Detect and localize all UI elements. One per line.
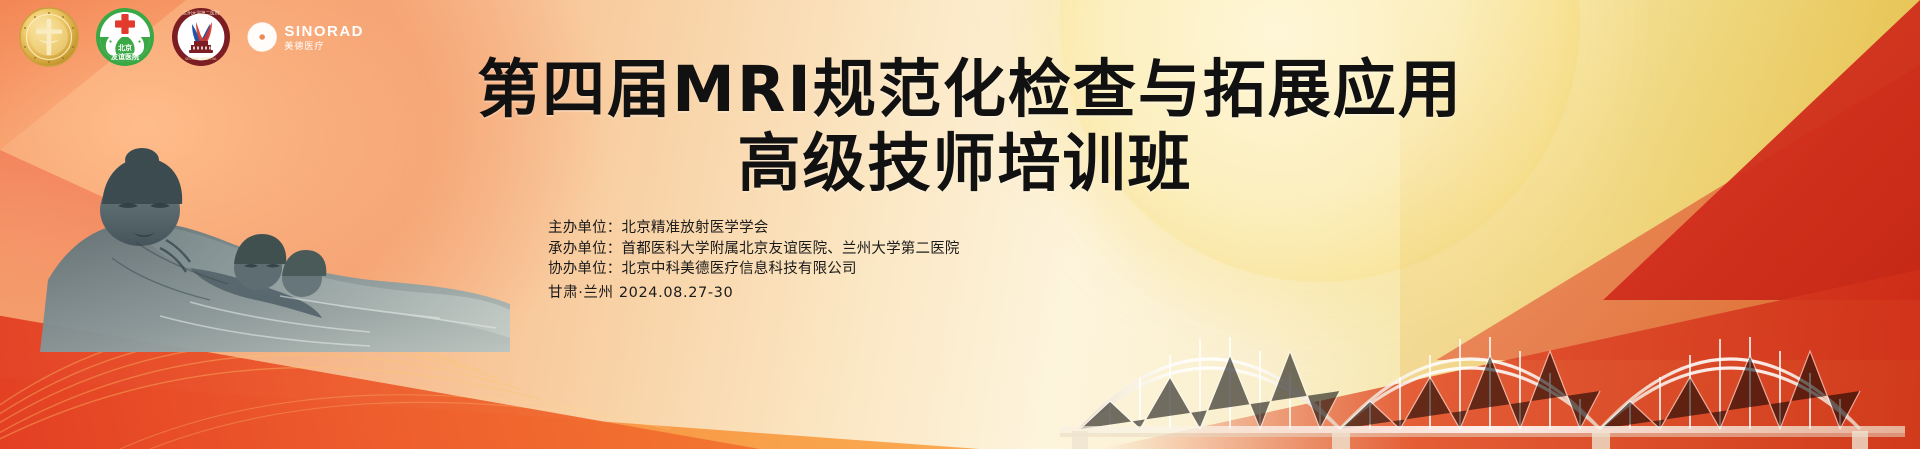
svg-text:兰州大学第二医院: 兰州大学第二医院 xyxy=(183,10,220,17)
conference-banner: 北京 友谊医院 兰州大学第二医院 xyxy=(0,0,1920,449)
svg-text:北京: 北京 xyxy=(118,43,132,52)
sinorad-subtitle: 美德医疗 xyxy=(284,42,364,51)
page-title-line1: 第四届MRI规范化检查与拓展应用 xyxy=(0,58,1920,122)
title-block: 第四届MRI规范化检查与拓展应用 高级技师培训班 xyxy=(0,58,1920,197)
organizer-line-coorganizer: 协办单位：北京中科美德医疗信息科技有限公司 xyxy=(548,259,1168,280)
page-title-line2: 高级技师培训班 xyxy=(0,132,1920,196)
sinorad-wordmark: SINORAD xyxy=(284,24,364,39)
venue-and-date: 甘肃·兰州 2024.08.27-30 xyxy=(548,283,1168,304)
organizer-line-undertaker: 承办单位：首都医科大学附属北京友谊医院、兰州大学第二医院 xyxy=(548,239,1168,260)
lanzhou-zhongshan-bridge-illustration xyxy=(1040,179,1920,449)
organizer-block: 主办单位：北京精准放射医学学会 承办单位：首都医科大学附属北京友谊医院、兰州大学… xyxy=(548,218,1168,303)
sinorad-mark-icon xyxy=(246,15,278,59)
organizer-line-host: 主办单位：北京精准放射医学学会 xyxy=(548,218,1168,239)
